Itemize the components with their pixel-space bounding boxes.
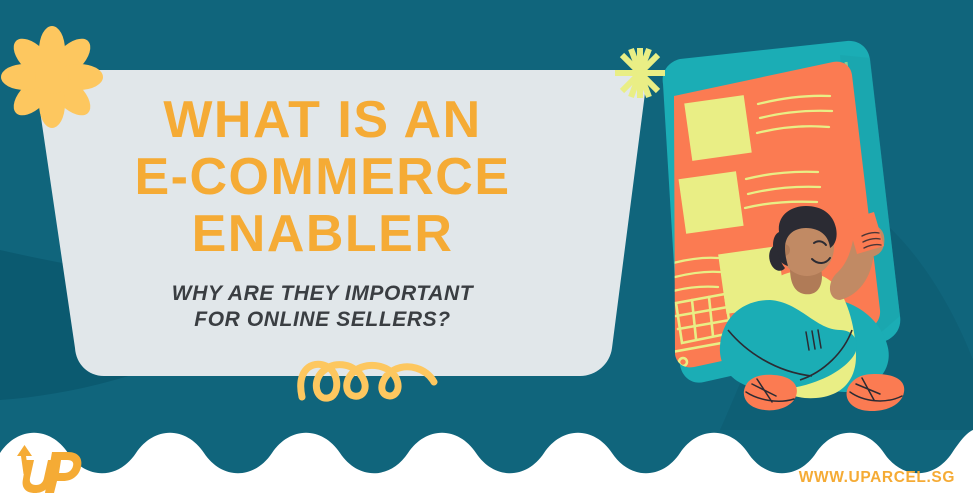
logo-letter-p [45,452,81,493]
wave-shape [0,430,973,500]
marketing-banner: WHAT IS AN E-COMMERCE ENABLER WHY ARE TH… [0,0,973,500]
scalloped-wave [0,0,973,500]
website-url[interactable]: WWW.UPARCEL.SG [799,469,955,487]
uparcel-logo[interactable] [8,440,88,495]
logo-mark [8,440,88,495]
